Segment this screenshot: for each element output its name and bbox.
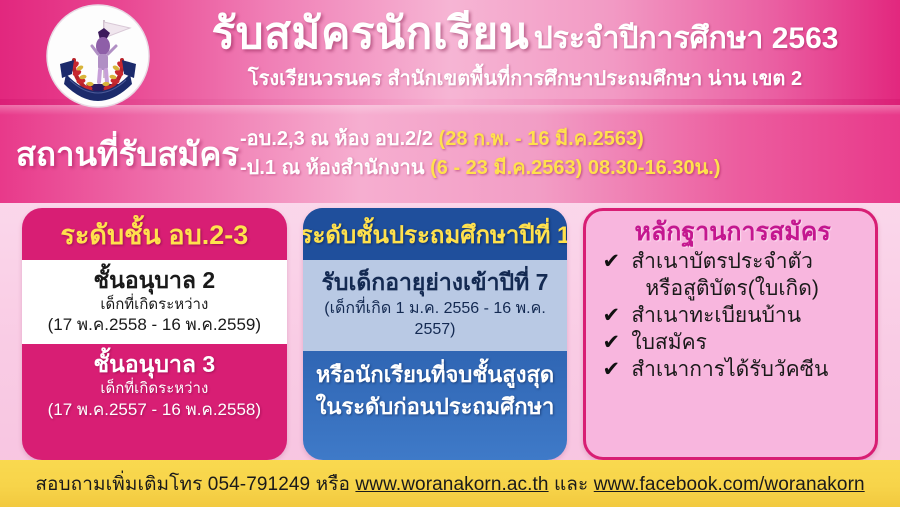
check-icon: ✔ (600, 303, 622, 329)
contact-conjunction: และ (549, 474, 594, 495)
document-item-label: สำเนาการได้รับวัคซีน (631, 357, 828, 384)
kindergarten-level-2-subtitle: เด็กที่เกิดระหว่าง (26, 295, 283, 315)
kindergarten-level-2-block: ชั้นอนุบาล 2 เด็กที่เกิดระหว่าง (17 พ.ค.… (22, 260, 287, 344)
document-item: ✔ สำเนาทะเบียนบ้าน (600, 303, 865, 330)
check-icon: ✔ (600, 330, 622, 356)
primary-alternative-line-2: ในระดับก่อนประถมศึกษา (307, 391, 564, 423)
document-item: ✔ สำเนาการได้รับวัคซีน (600, 357, 865, 384)
place-row-p1-main: -ป.1 ณ ห้องสำนักงาน (240, 157, 430, 179)
card-primary-grade-1: ระดับชั้นประถมศึกษาปีที่ 1 รับเด็กอายุย่… (303, 208, 568, 460)
header-band: รับสมัครนักเรียน ประจำปีการศึกษา 2563 โร… (0, 0, 900, 105)
school-emblem-icon (44, 2, 152, 110)
place-label: สถานที่รับสมัคร (10, 128, 245, 181)
header-text-block: รับสมัครนักเรียน ประจำปีการศึกษา 2563 โร… (160, 0, 890, 105)
primary-age-daterange: (เด็กที่เกิด 1 ม.ค. 2556 - 16 พ.ค. 2557) (307, 298, 564, 341)
primary-alternative-line-1: หรือนักเรียนที่จบชั้นสูงสุด (307, 359, 564, 391)
document-item-label: สำเนาบัตรประจำตัว (631, 249, 813, 276)
kindergarten-level-3-daterange: (17 พ.ค.2557 - 16 พ.ค.2558) (26, 399, 283, 421)
place-lines: -อบ.2,3 ณ ห้อง อบ.2/2 (28 ก.พ. - 16 มี.ค… (240, 125, 760, 183)
poster-title-year: ประจำปีการศึกษา 2563 (534, 22, 839, 55)
place-row-p1-dates: (6 - 23 มี.ค.2563) 08.30-16.30น.) (430, 157, 720, 179)
document-item-label: ใบสมัคร (631, 330, 707, 357)
check-icon: ✔ (600, 357, 622, 383)
card-required-documents: หลักฐานการสมัคร ✔ สำเนาบัตรประจำตัว ✔ หร… (583, 208, 878, 460)
kindergarten-level-2-daterange: (17 พ.ค.2558 - 16 พ.ค.2559) (26, 314, 283, 336)
poster-subtitle: โรงเรียนวรนคร สำนักเขตพื้นที่การศึกษาประ… (248, 62, 802, 94)
poster-root: รับสมัครนักเรียน ประจำปีการศึกษา 2563 โร… (0, 0, 900, 507)
registration-place-band: สถานที่รับสมัคร -อบ.2,3 ณ ห้อง อบ.2/2 (2… (0, 105, 900, 203)
check-icon: ✔ (600, 249, 622, 275)
primary-age-block: รับเด็กอายุย่างเข้าปีที่ 7 (เด็กที่เกิด … (303, 260, 568, 351)
poster-title: รับสมัครนักเรียน ประจำปีการศึกษา 2563 (212, 11, 839, 57)
poster-title-main: รับสมัครนักเรียน (212, 9, 530, 58)
contact-footer-bar: สอบถามเพิ่มเติมโทร 054-791249 หรือ www.w… (0, 460, 900, 507)
document-item: ✔ หรือสูติบัตร(ใบเกิด) (600, 276, 865, 303)
kindergarten-level-3-title: ชั้นอนุบาล 3 (26, 350, 283, 379)
document-item-label: สำเนาทะเบียนบ้าน (631, 303, 801, 330)
kindergarten-level-3-subtitle: เด็กที่เกิดระหว่าง (26, 379, 283, 399)
facebook-page-link[interactable]: www.facebook.com/woranakorn (594, 474, 865, 495)
place-row-kg-main: -อบ.2,3 ณ ห้อง อบ.2/2 (240, 128, 439, 150)
place-row-primary: -ป.1 ณ ห้องสำนักงาน (6 - 23 มี.ค.2563) 0… (240, 154, 760, 183)
kindergarten-level-2-title: ชั้นอนุบาล 2 (26, 266, 283, 295)
kindergarten-level-3-block: ชั้นอนุบาล 3 เด็กที่เกิดระหว่าง (17 พ.ค.… (22, 344, 287, 428)
school-website-link[interactable]: www.woranakorn.ac.th (355, 474, 548, 495)
primary-alternative-block: หรือนักเรียนที่จบชั้นสูงสุด ในระดับก่อนป… (303, 351, 568, 433)
document-item-label: หรือสูติบัตร(ใบเกิด) (631, 276, 819, 303)
place-row-kg-dates: (28 ก.พ. - 16 มี.ค.2563) (439, 128, 644, 150)
info-cards-row: ระดับชั้น อบ.2-3 ชั้นอนุบาล 2 เด็กที่เกิ… (0, 208, 900, 460)
contact-lead-text: สอบถามเพิ่มเติมโทร 054-791249 หรือ (35, 474, 355, 495)
place-row-kindergarten: -อบ.2,3 ณ ห้อง อบ.2/2 (28 ก.พ. - 16 มี.ค… (240, 125, 760, 154)
card-kindergarten: ระดับชั้น อบ.2-3 ชั้นอนุบาล 2 เด็กที่เกิ… (22, 208, 287, 460)
primary-age-title: รับเด็กอายุย่างเข้าปีที่ 7 (307, 268, 564, 298)
document-item: ✔ ใบสมัคร (600, 330, 865, 357)
documents-header: หลักฐานการสมัคร (600, 217, 865, 247)
contact-footer-text: สอบถามเพิ่มเติมโทร 054-791249 หรือ www.w… (35, 469, 864, 499)
card-primary-header: ระดับชั้นประถมศึกษาปีที่ 1 (303, 208, 568, 260)
card-kindergarten-header: ระดับชั้น อบ.2-3 (22, 208, 287, 260)
documents-list: ✔ สำเนาบัตรประจำตัว ✔ หรือสูติบัตร(ใบเกิ… (600, 249, 865, 383)
document-item: ✔ สำเนาบัตรประจำตัว (600, 249, 865, 276)
